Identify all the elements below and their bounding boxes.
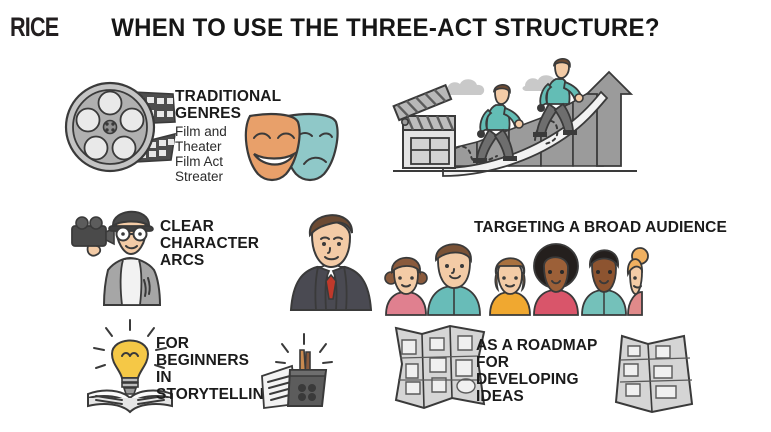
person-woman-afro <box>534 244 578 315</box>
roadmap-label: AS A ROADMAP FOR DEVELOPING IDEAS <box>476 337 626 405</box>
clear-character-arcs-label: CLEAR CHARACTER ARCS <box>160 218 295 269</box>
businessman-icon <box>285 205 377 310</box>
block-growth-chart <box>385 58 645 183</box>
theater-masks-icon <box>236 112 348 184</box>
film-reel-icon <box>55 70 185 180</box>
person-woman-bun <box>628 248 648 315</box>
director-with-camera-icon <box>68 200 163 305</box>
page-title: WHEN TO USE THE THREE-ACT STRUCTURE? <box>15 14 755 43</box>
person-girl-pigtails <box>385 258 427 315</box>
pencil-holder-icon <box>258 332 343 412</box>
person-man-teal <box>428 244 480 315</box>
slide-canvas: RICE WHEN TO USE THE THREE-ACT STRUCTURE… <box>0 0 771 432</box>
clapperboard-icon <box>394 85 455 168</box>
person-girl-yellow <box>490 258 530 315</box>
people-group-icon <box>382 230 642 315</box>
clear-character-arcs-text: CLEAR CHARACTER ARCS <box>160 218 295 269</box>
ascending-bar-chart-icon <box>385 58 645 183</box>
person-man-dark <box>582 250 626 315</box>
folded-map-icon <box>608 328 698 413</box>
block-traditional-genres <box>55 70 185 180</box>
roadmap-text: AS A ROADMAP FOR DEVELOPING IDEAS <box>476 337 626 405</box>
